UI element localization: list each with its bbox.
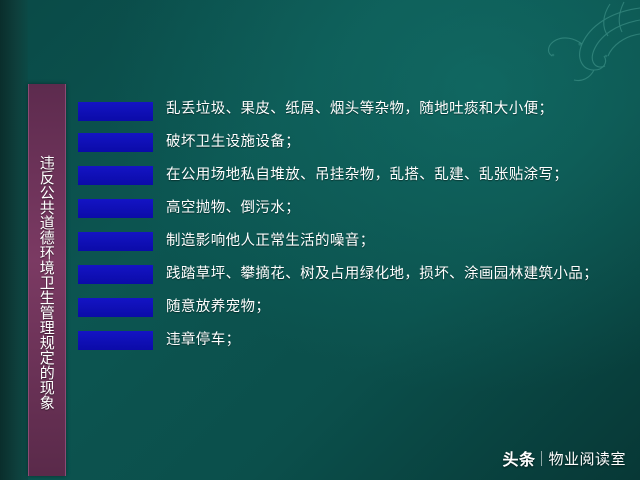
list-item-text: 乱丢垃圾、果皮、纸屑、烟头等杂物，随地吐痰和大小便； (166, 96, 626, 123)
watermark: 头条 物业阅读室 (502, 446, 626, 470)
watermark-logo: 头条 (502, 446, 535, 470)
list-item-text: 随意放养宠物； (166, 294, 626, 321)
list-item: 践踏草坪、攀摘花、树及占用绿化地，损坏、涂画园林建筑小品； (78, 261, 626, 288)
slide: 违反公共道德环境卫生管理规定的现象 乱丢垃圾、果皮、纸屑、烟头等杂物，随地吐痰和… (0, 0, 640, 480)
left-edge-band (0, 0, 28, 480)
list-item-text: 高空抛物、倒污水； (166, 195, 626, 222)
list-item: 在公用场地私自堆放、吊挂杂物，乱搭、乱建、乱张贴涂写； (78, 162, 626, 189)
list-item-text: 在公用场地私自堆放、吊挂杂物，乱搭、乱建、乱张贴涂写； (166, 162, 626, 189)
list-item: 违章停车； (78, 327, 626, 354)
list-item: 乱丢垃圾、果皮、纸屑、烟头等杂物，随地吐痰和大小便； (78, 96, 626, 123)
bullet-block-icon (78, 265, 153, 284)
bullet-block-icon (78, 133, 153, 152)
bullet-block-icon (78, 232, 153, 251)
list-item: 制造影响他人正常生活的噪音； (78, 228, 626, 255)
bullet-block-icon (78, 166, 153, 185)
list-item-text: 制造影响他人正常生活的噪音； (166, 228, 626, 255)
bullet-block-icon (78, 331, 153, 350)
list-item: 破坏卫生设施设备； (78, 129, 626, 156)
corner-flourish-decoration (490, 0, 640, 90)
list-item: 高空抛物、倒污水； (78, 195, 626, 222)
list-item: 随意放养宠物； (78, 294, 626, 321)
rules-list: 乱丢垃圾、果皮、纸屑、烟头等杂物，随地吐痰和大小便； 破坏卫生设施设备； 在公用… (78, 96, 626, 360)
list-item-text: 违章停车； (166, 327, 626, 354)
watermark-separator (541, 451, 542, 466)
bullet-block-icon (78, 298, 153, 317)
bullet-block-icon (78, 102, 153, 121)
watermark-name: 物业阅读室 (548, 448, 626, 469)
bullet-block-icon (78, 199, 153, 218)
page-title: 违反公共道德环境卫生管理规定的现象 (28, 88, 64, 476)
list-item-text: 践踏草坪、攀摘花、树及占用绿化地，损坏、涂画园林建筑小品； (166, 261, 626, 288)
list-item-text: 破坏卫生设施设备； (166, 129, 626, 156)
